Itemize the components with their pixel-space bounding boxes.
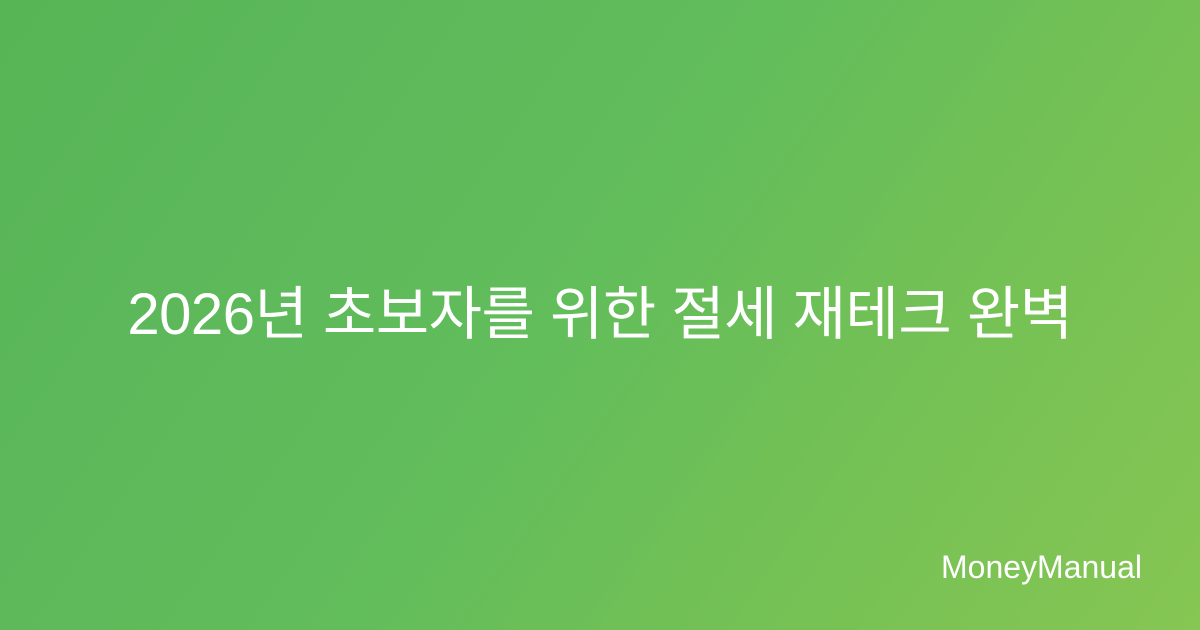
title-container: 2026년 초보자를 위한 절세 재테크 완벽 — [0, 0, 1200, 630]
brand-name: MoneyManual — [941, 549, 1142, 586]
social-share-card: 2026년 초보자를 위한 절세 재테크 완벽 MoneyManual — [0, 0, 1200, 630]
page-title: 2026년 초보자를 위한 절세 재테크 완벽 — [127, 279, 1072, 352]
